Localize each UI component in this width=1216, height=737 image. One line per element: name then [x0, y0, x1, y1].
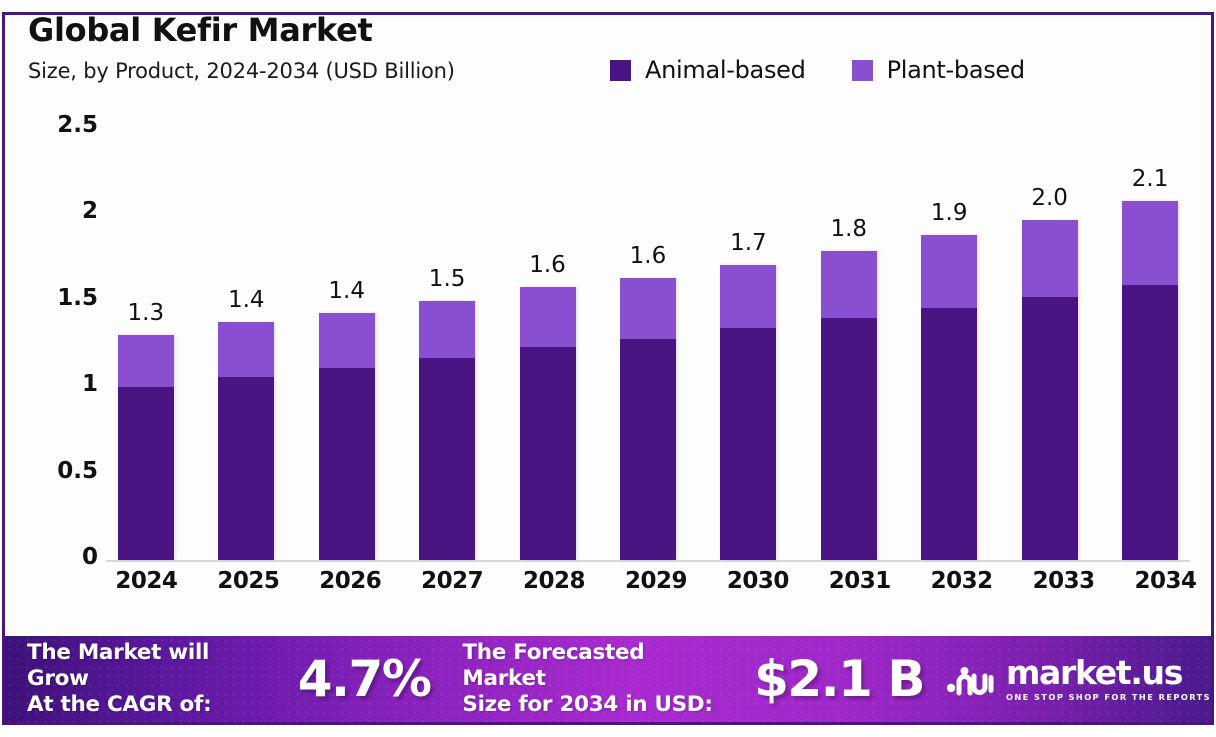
x-axis-tick: 2024 — [106, 568, 187, 594]
chart-legend: Animal-based Plant-based — [610, 56, 1025, 84]
bar-segment-plant-based[interactable] — [1122, 201, 1178, 286]
bar-stack[interactable]: 1.8 — [821, 251, 877, 560]
bar-group[interactable]: 1.6 — [508, 128, 588, 560]
bar-group[interactable]: 1.6 — [608, 128, 688, 560]
cagr-caption-line2: At the CAGR of: — [27, 692, 272, 718]
bar-segment-plant-based[interactable] — [921, 235, 977, 308]
logo-mark-icon — [946, 662, 996, 696]
bar-segment-plant-based[interactable] — [520, 287, 576, 347]
bar-stack[interactable]: 1.6 — [620, 278, 676, 560]
chart-infographic: Global Kefir Market Size, by Product, 20… — [0, 0, 1216, 737]
x-axis-tick: 2025 — [208, 568, 289, 594]
forecast-caption-line1: The Forecasted Market — [462, 640, 728, 692]
bar-segment-plant-based[interactable] — [419, 301, 475, 358]
bar-segment-plant-based[interactable] — [118, 335, 174, 387]
x-axis-tick: 2030 — [717, 568, 798, 594]
bar-group[interactable]: 2.1 — [1110, 128, 1190, 560]
cagr-caption: The Market will Grow At the CAGR of: — [27, 640, 272, 719]
bar-group[interactable]: 1.4 — [206, 128, 286, 560]
bars-container: 1.31.41.41.51.61.61.71.81.92.02.1 — [106, 125, 1190, 562]
legend-item-animal-based[interactable]: Animal-based — [610, 56, 806, 84]
bar-group[interactable]: 1.3 — [106, 128, 186, 560]
legend-swatch-icon — [610, 60, 631, 81]
bar-value-label: 1.6 — [630, 243, 667, 269]
footer-banner: The Market will Grow At the CAGR of: 4.7… — [5, 636, 1211, 722]
bar-value-label: 1.5 — [429, 266, 466, 292]
bar-segment-plant-based[interactable] — [620, 278, 676, 338]
logo-wordmark: market.us — [1006, 656, 1211, 689]
logo-text: market.us ONE STOP SHOP FOR THE REPORTS — [1006, 656, 1211, 702]
bar-series: 1.31.41.41.51.61.61.71.81.92.02.1 — [106, 128, 1190, 560]
bar-segment-plant-based[interactable] — [821, 251, 877, 318]
x-axis-tick: 2034 — [1125, 568, 1206, 594]
bar-value-label: 2.1 — [1132, 166, 1169, 192]
bar-group[interactable]: 2.0 — [1010, 128, 1090, 560]
market-us-logo[interactable]: market.us ONE STOP SHOP FOR THE REPORTS — [946, 656, 1211, 702]
y-axis-tick: 1 — [82, 371, 98, 397]
x-axis-tick: 2031 — [819, 568, 900, 594]
x-axis-tick: 2033 — [1023, 568, 1104, 594]
x-axis-tick: 2028 — [514, 568, 595, 594]
legend-label: Plant-based — [887, 56, 1025, 84]
bar-stack[interactable]: 2.1 — [1122, 201, 1178, 560]
y-axis-tick: 1.5 — [57, 285, 98, 311]
cagr-value: 4.7% — [298, 650, 431, 708]
bar-stack[interactable]: 1.4 — [319, 313, 375, 560]
bar-value-label: 1.4 — [228, 287, 265, 313]
y-axis-tick: 0 — [82, 544, 98, 570]
bar-segment-animal-based[interactable] — [720, 328, 776, 560]
bar-segment-animal-based[interactable] — [520, 347, 576, 560]
bar-segment-animal-based[interactable] — [118, 387, 174, 560]
bar-value-label: 1.3 — [128, 300, 165, 326]
bar-segment-animal-based[interactable] — [319, 368, 375, 560]
x-axis-tick: 2032 — [921, 568, 1002, 594]
bar-segment-animal-based[interactable] — [1022, 297, 1078, 560]
bar-value-label: 1.8 — [830, 216, 867, 242]
bar-value-label: 1.7 — [730, 230, 767, 256]
legend-swatch-icon — [852, 60, 873, 81]
bar-group[interactable]: 1.5 — [407, 128, 487, 560]
bar-segment-animal-based[interactable] — [419, 358, 475, 560]
bar-stack[interactable]: 2.0 — [1022, 220, 1078, 560]
bar-value-label: 1.6 — [529, 252, 566, 278]
bar-segment-animal-based[interactable] — [1122, 285, 1178, 560]
page-title: Global Kefir Market — [28, 12, 1188, 49]
forecast-caption: The Forecasted Market Size for 2034 in U… — [462, 640, 728, 719]
bar-segment-animal-based[interactable] — [620, 339, 676, 560]
plot-area: 00.511.522.5 1.31.41.41.51.61.61.71.81.9… — [20, 125, 1200, 585]
bar-segment-plant-based[interactable] — [218, 322, 274, 377]
bar-group[interactable]: 1.8 — [809, 128, 889, 560]
bar-value-label: 1.4 — [328, 278, 365, 304]
bar-segment-plant-based[interactable] — [1022, 220, 1078, 298]
x-axis-tick: 2029 — [616, 568, 697, 594]
bar-segment-plant-based[interactable] — [720, 265, 776, 329]
bar-stack[interactable]: 1.5 — [419, 301, 475, 560]
bar-group[interactable]: 1.4 — [307, 128, 387, 560]
bar-stack[interactable]: 1.9 — [921, 235, 977, 560]
forecast-caption-line2: Size for 2034 in USD: — [462, 692, 728, 718]
bar-segment-animal-based[interactable] — [921, 308, 977, 560]
logo-tagline: ONE STOP SHOP FOR THE REPORTS — [1006, 692, 1211, 702]
bar-group[interactable]: 1.9 — [909, 128, 989, 560]
x-axis: 2024202520262027202820292030203120322033… — [106, 568, 1206, 594]
forecast-value: $2.1 B — [754, 650, 924, 708]
bar-group[interactable]: 1.7 — [709, 128, 789, 560]
y-axis-tick: 0.5 — [57, 458, 98, 484]
y-axis-tick: 2 — [82, 198, 98, 224]
bar-segment-animal-based[interactable] — [821, 318, 877, 560]
bar-segment-plant-based[interactable] — [319, 313, 375, 368]
legend-label: Animal-based — [645, 56, 806, 84]
y-axis-tick: 2.5 — [57, 112, 98, 138]
bar-segment-animal-based[interactable] — [218, 377, 274, 560]
legend-item-plant-based[interactable]: Plant-based — [852, 56, 1025, 84]
x-axis-tick: 2026 — [310, 568, 391, 594]
bar-stack[interactable]: 1.6 — [520, 287, 576, 560]
bar-stack[interactable]: 1.3 — [118, 335, 174, 560]
cagr-caption-line1: The Market will Grow — [27, 640, 272, 692]
bar-value-label: 1.9 — [931, 200, 968, 226]
bar-stack[interactable]: 1.7 — [720, 265, 776, 560]
bar-stack[interactable]: 1.4 — [218, 322, 274, 560]
y-axis: 00.511.522.5 — [20, 125, 98, 562]
x-axis-tick: 2027 — [412, 568, 493, 594]
bar-value-label: 2.0 — [1031, 185, 1068, 211]
